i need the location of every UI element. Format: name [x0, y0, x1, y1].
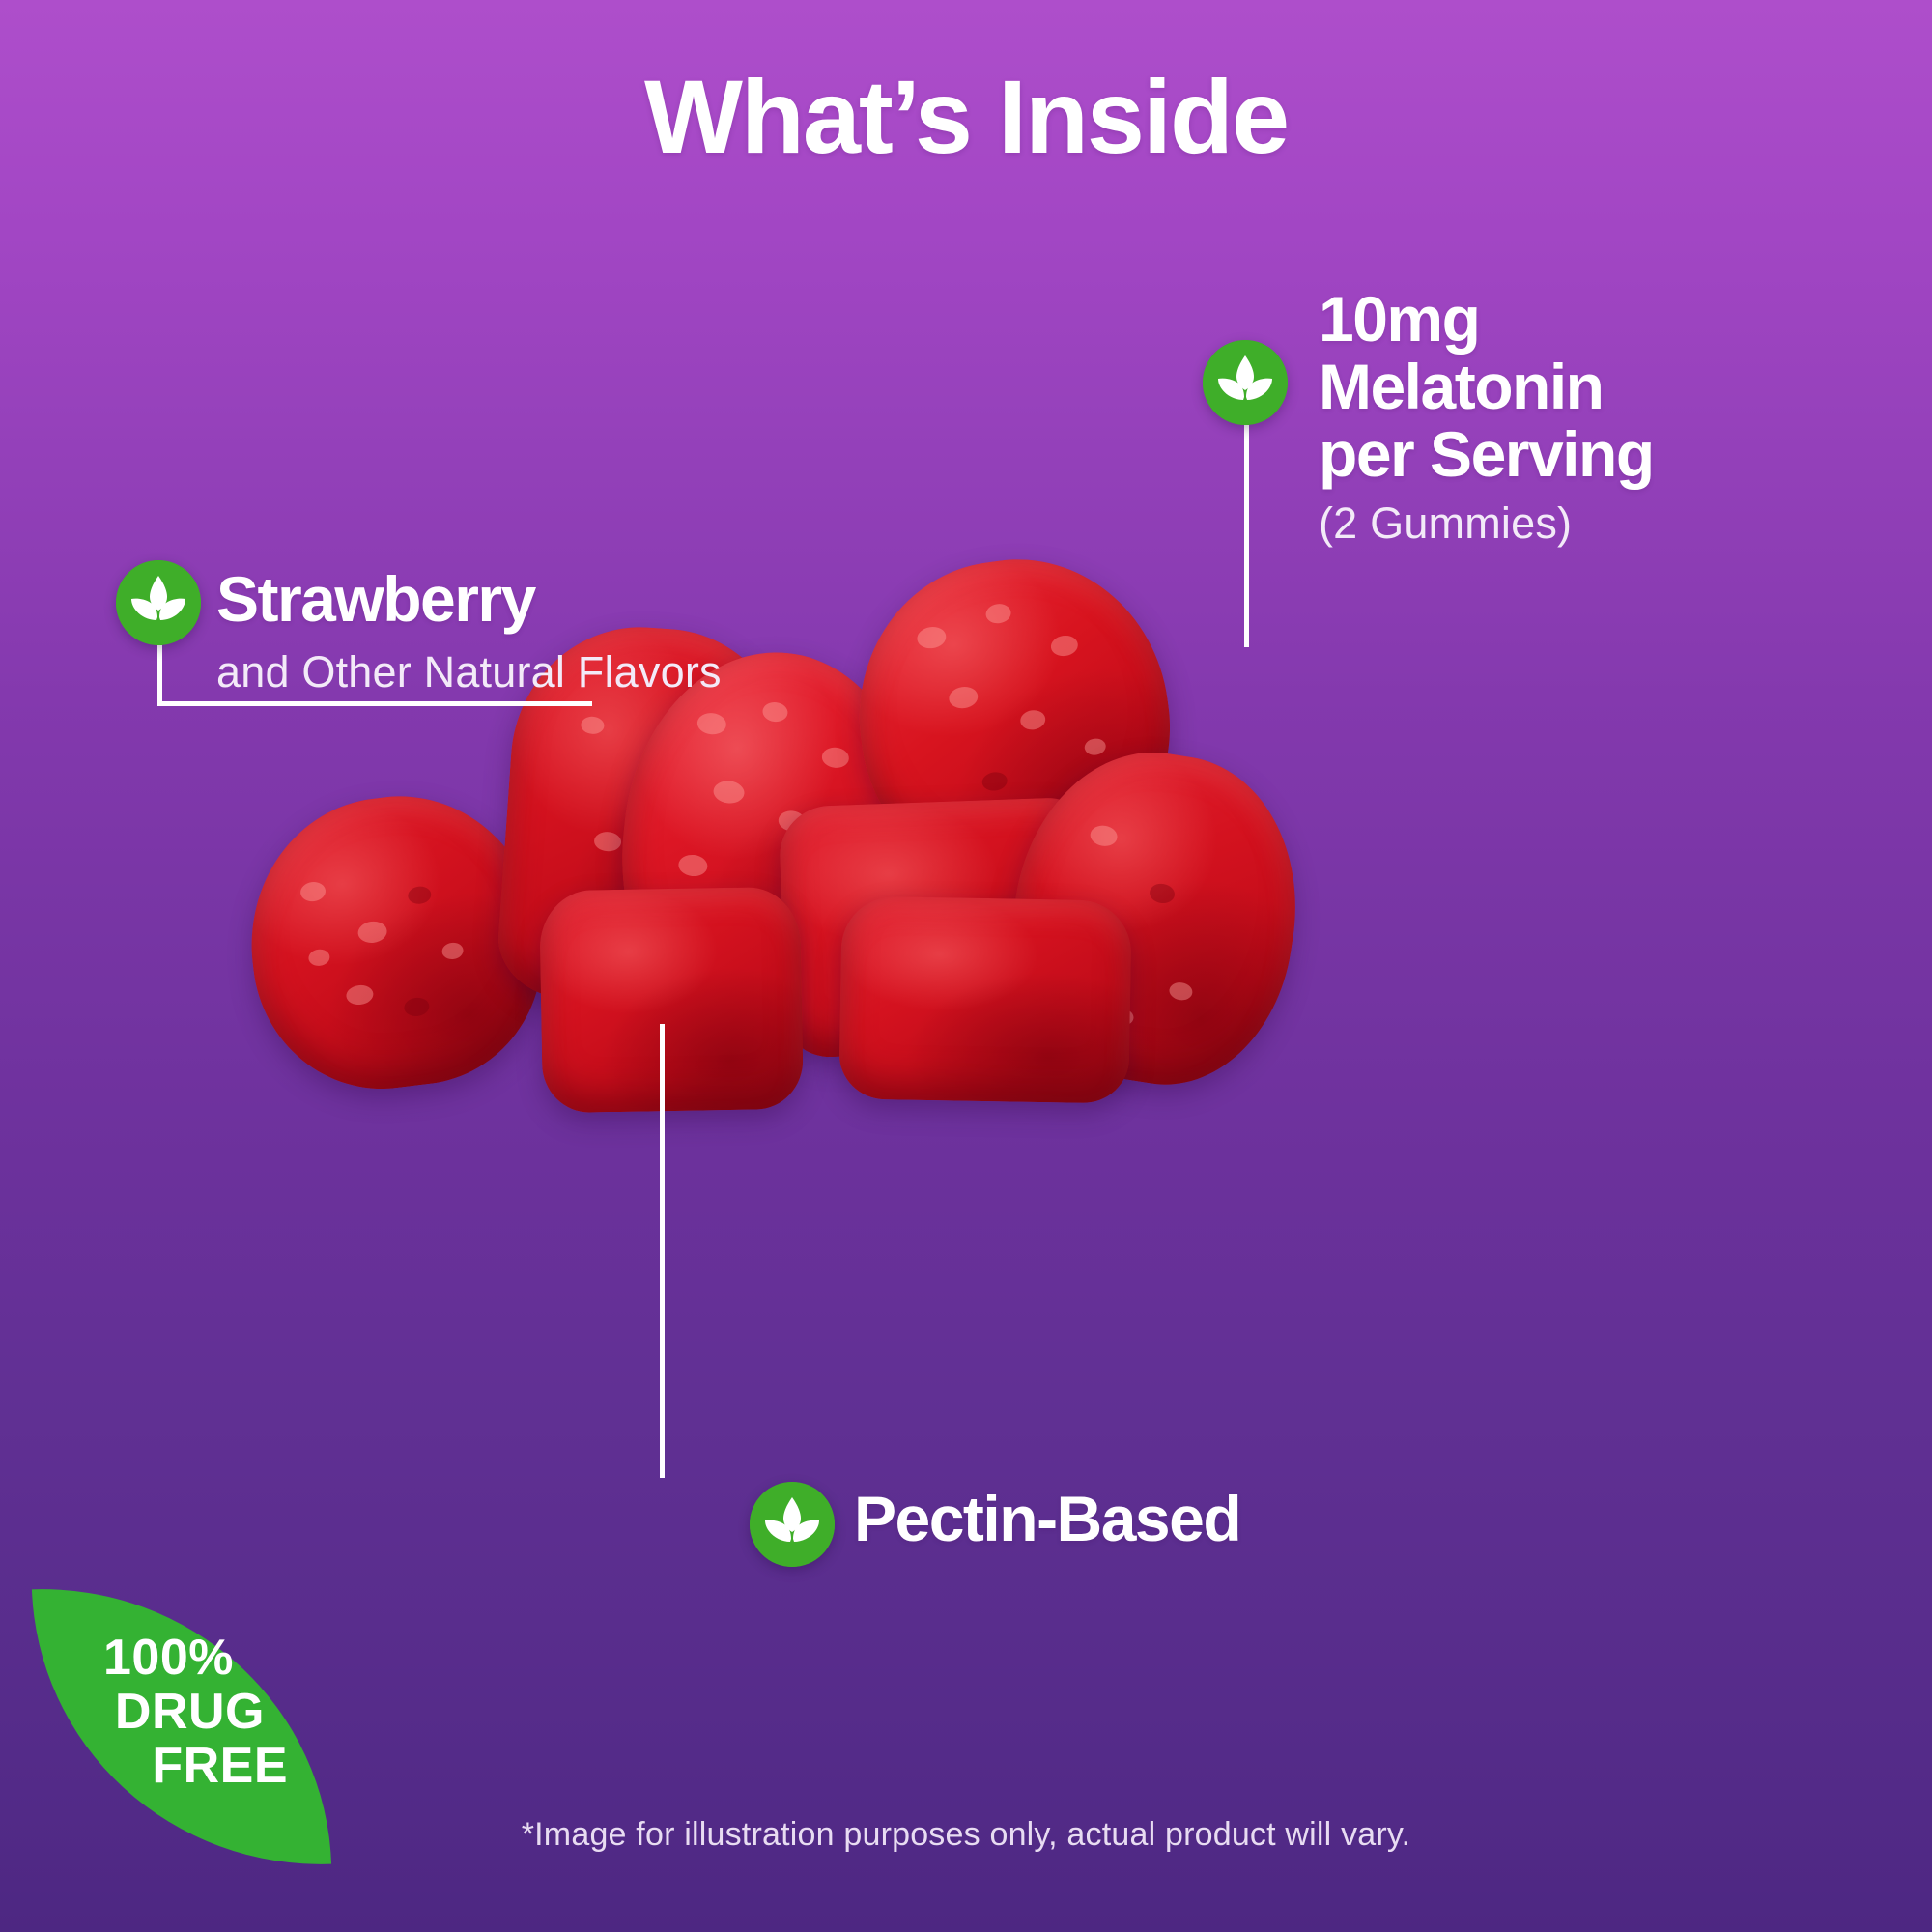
gummy-cube-front-center: [539, 887, 804, 1114]
badge-line-1: 100%: [37, 1631, 290, 1685]
gummy-cube-front-right: [838, 895, 1132, 1103]
callout-pectin-heading: Pectin-Based: [854, 1486, 1240, 1553]
drug-free-badge-text: 100% DRUG FREE: [37, 1631, 290, 1793]
page-title: What’s Inside: [0, 56, 1932, 177]
callout-strawberry-heading: Strawberry: [216, 566, 535, 634]
callout-melatonin-heading-block: 10mg Melatonin per Serving (2 Gummies): [1319, 286, 1654, 549]
product-gummies-image: [241, 551, 1314, 1111]
disclaimer-text: *Image for illustration purposes only, a…: [0, 1816, 1932, 1854]
callout-melatonin-heading-line1: 10mg: [1319, 286, 1654, 354]
badge-line-3: FREE: [37, 1739, 290, 1793]
infographic-canvas: What’s Inside: [0, 0, 1932, 1932]
leader-line-melatonin: [1244, 425, 1249, 647]
sprout-icon: [1203, 340, 1288, 425]
callout-melatonin-subtext: (2 Gummies): [1319, 498, 1654, 549]
callout-strawberry-subtext: and Other Natural Flavors: [216, 647, 722, 697]
badge-line-2: DRUG: [37, 1685, 290, 1739]
callout-melatonin-heading-line3: per Serving: [1319, 421, 1654, 489]
leader-line-strawberry-horizontal: [157, 701, 592, 706]
leader-line-pectin: [660, 1024, 665, 1478]
sprout-icon: [116, 560, 201, 645]
callout-melatonin-heading-line2: Melatonin: [1319, 354, 1654, 421]
leader-line-strawberry-vertical: [157, 645, 162, 705]
sprout-icon: [750, 1482, 835, 1567]
